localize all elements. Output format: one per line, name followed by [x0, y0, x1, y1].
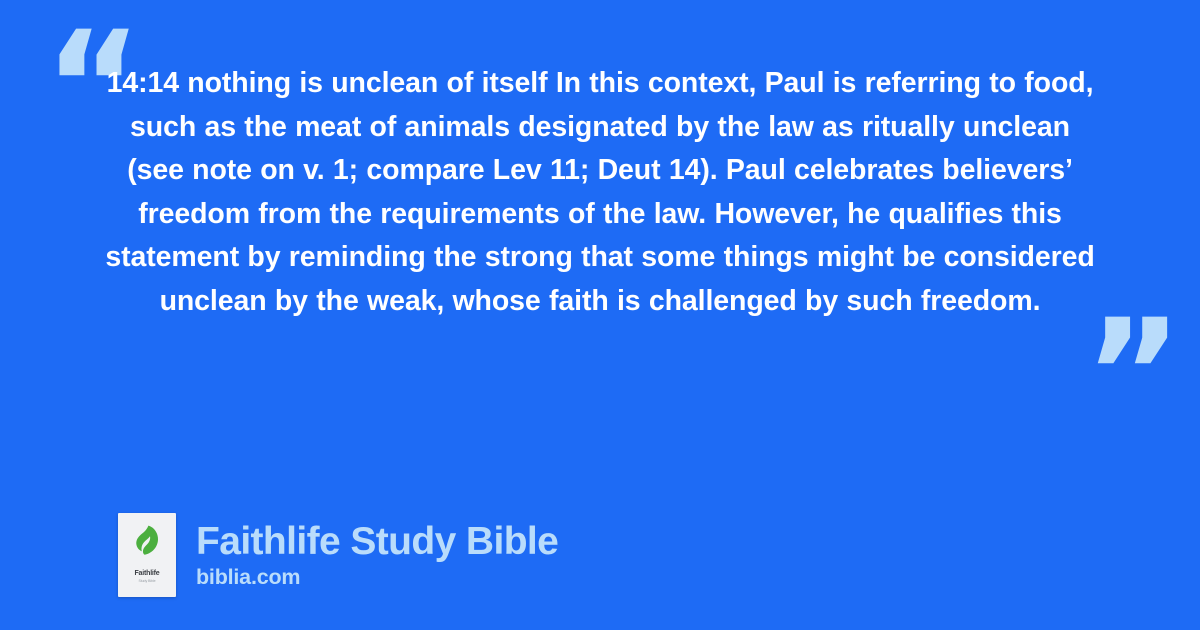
brand-url[interactable]: biblia.com — [196, 564, 558, 590]
quote-block: 14:14 nothing is unclean of itself In th… — [100, 62, 1100, 323]
cover-wordmark: Faithlife — [134, 570, 159, 578]
quote-text: 14:14 nothing is unclean of itself In th… — [100, 62, 1100, 323]
cover-subwordmark: Study Bible — [138, 579, 155, 584]
book-cover-thumbnail: Faithlife Study Bible — [118, 513, 176, 597]
faithlife-leaf-logo-icon — [134, 525, 160, 555]
brand-title: Faithlife Study Bible — [196, 520, 558, 563]
brand-text: Faithlife Study Bible biblia.com — [196, 520, 558, 590]
quote-share-card: “ ” 14:14 nothing is unclean of itself I… — [0, 0, 1200, 630]
branding: Faithlife Study Bible Faithlife Study Bi… — [118, 513, 558, 597]
